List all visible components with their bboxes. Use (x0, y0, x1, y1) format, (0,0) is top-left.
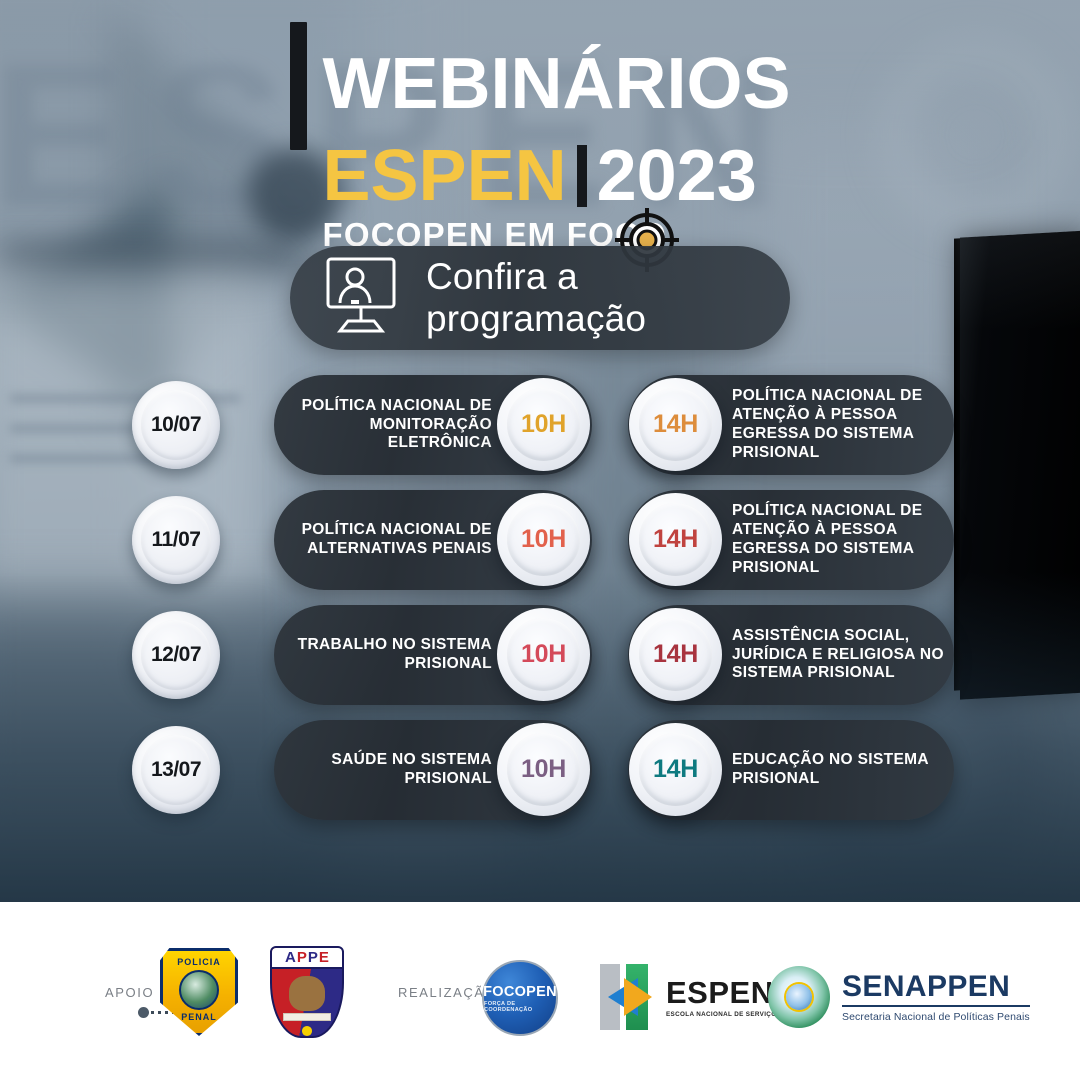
brasao-republica-icon (768, 966, 830, 1028)
logo-focopen: FOCOPEN FORÇA DE COORDENAÇÃO (482, 960, 558, 1036)
hour-badge-afternoon: 14H (629, 493, 722, 586)
appe-dot-icon (302, 1026, 312, 1036)
date-badge: 13/07 (132, 726, 220, 814)
hour-label: 10H (521, 755, 566, 784)
hour-badge-afternoon: 14H (629, 378, 722, 471)
appe-letter-a: A (285, 949, 296, 966)
hour-badge-morning: 10H (497, 608, 590, 701)
footer-logos-bar: APOIO REALIZAÇÃO POLICIA PENAL A P P (0, 902, 1080, 1080)
session-title: SAÚDE NO SISTEMA PRISIONAL (274, 751, 492, 789)
date-badge: 12/07 (132, 611, 220, 699)
senappen-tagline: Secretaria Nacional de Políticas Penais (842, 1011, 1030, 1023)
programacao-banner[interactable]: Confira a programação (290, 246, 790, 350)
hour-label: 14H (653, 525, 698, 554)
hour-badge-morning: 10H (497, 723, 590, 816)
policia-top-text: POLICIA (177, 957, 221, 967)
poster-header: WEBINÁRIOS ESPEN 2023 FOCOPEN EM FOCO (0, 18, 1080, 254)
date-label: 10/07 (151, 413, 201, 437)
hour-label: 10H (521, 410, 566, 439)
appe-lion-icon (289, 976, 325, 1011)
title-year: 2023 (597, 142, 757, 210)
appe-letter-e: E (319, 949, 329, 966)
schedule-list: 10/07 POLÍTICA NACIONAL DE MONITORAÇÃO E… (0, 370, 1080, 830)
focopen-tagline: FORÇA DE COORDENAÇÃO (484, 1001, 556, 1013)
appe-letter-p1: P (297, 949, 307, 966)
title-accent-bar (290, 22, 307, 150)
poster-canvas: ESPEN WEBINÁRIOS ESPEN 2023 (0, 0, 1080, 1080)
espen-mark-icon (600, 964, 656, 1030)
appe-letter-p2: P (308, 949, 318, 966)
monitor-presenter-icon (318, 255, 404, 342)
date-label: 11/07 (152, 528, 201, 552)
date-label: 13/07 (151, 758, 201, 782)
session-title: TRABALHO NO SISTEMA PRISIONAL (274, 636, 492, 674)
date-badge: 10/07 (132, 381, 220, 469)
date-badge: 11/07 (132, 496, 220, 584)
schedule-row: 12/07 TRABALHO NO SISTEMA PRISIONAL 10H … (0, 600, 1080, 715)
schedule-row: 11/07 POLÍTICA NACIONAL DE ALTERNATIVAS … (0, 485, 1080, 600)
appe-book-icon (283, 1013, 331, 1022)
schedule-row: 10/07 POLÍTICA NACIONAL DE MONITORAÇÃO E… (0, 370, 1080, 485)
hour-label: 10H (521, 640, 566, 669)
hour-badge-morning: 10H (497, 493, 590, 586)
focopen-name: FOCOPEN (483, 984, 557, 1000)
hour-badge-morning: 10H (497, 378, 590, 471)
programacao-label: Confira a programação (426, 256, 790, 340)
senappen-name: SENAPPEN (842, 972, 1030, 1007)
hour-label: 14H (653, 410, 698, 439)
hour-badge-afternoon: 14H (629, 723, 722, 816)
hour-badge-afternoon: 14H (629, 608, 722, 701)
logo-policia-penal: POLICIA PENAL (160, 948, 238, 1036)
apoio-label: APOIO (105, 985, 154, 1000)
title-divider-bar (577, 145, 587, 207)
session-title: ASSISTÊNCIA SOCIAL, JURÍDICA E RELIGIOSA… (732, 627, 954, 684)
logo-appe: A P P E (270, 946, 344, 1038)
session-title: POLÍTICA NACIONAL DE ALTERNATIVAS PENAIS (274, 521, 492, 559)
policia-bottom-text: PENAL (181, 1012, 217, 1022)
title-webinarios: WEBINÁRIOS (323, 50, 791, 118)
hour-label: 14H (653, 640, 698, 669)
date-label: 12/07 (151, 643, 201, 667)
session-title: POLÍTICA NACIONAL DE ATENÇÃO À PESSOA EG… (732, 502, 954, 578)
session-title: EDUCAÇÃO NO SISTEMA PRISIONAL (732, 751, 954, 789)
session-title: POLÍTICA NACIONAL DE MONITORAÇÃO ELETRÔN… (274, 397, 492, 454)
policia-seal-icon (179, 970, 219, 1010)
session-title: POLÍTICA NACIONAL DE ATENÇÃO À PESSOA EG… (732, 387, 954, 463)
hour-label: 10H (521, 525, 566, 554)
title-espen: ESPEN (323, 142, 567, 210)
logo-senappen: SENAPPEN Secretaria Nacional de Política… (768, 966, 1030, 1028)
schedule-row: 13/07 SAÚDE NO SISTEMA PRISIONAL 10H EDU… (0, 715, 1080, 830)
hour-label: 14H (653, 755, 698, 784)
